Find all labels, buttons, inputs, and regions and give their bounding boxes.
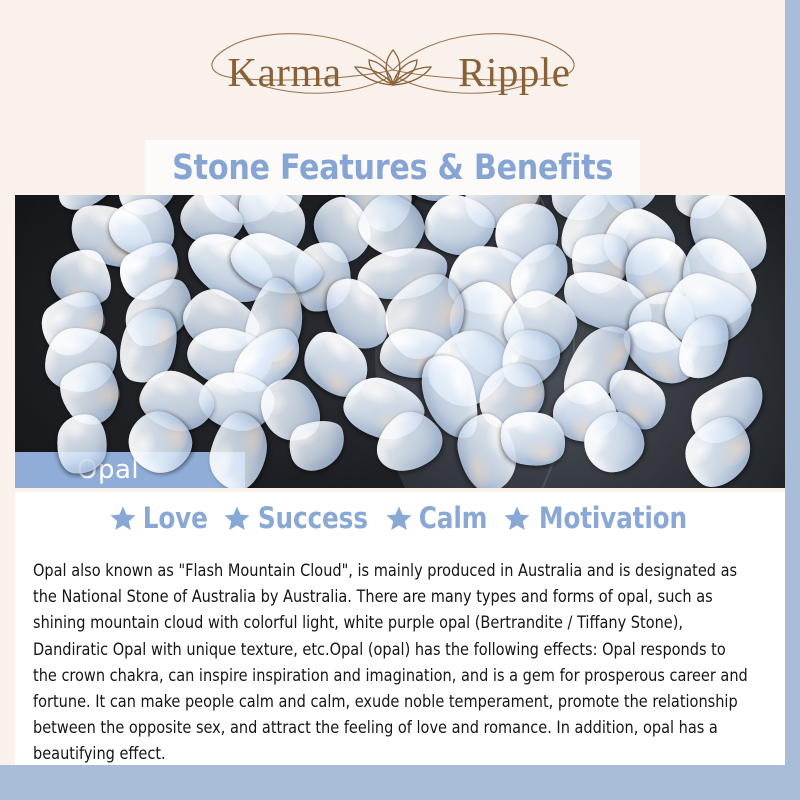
description-text: Opal also known as "Flash Mountain Cloud… — [33, 558, 752, 768]
brand-name-right: Ripple — [458, 48, 570, 96]
benefit-keyword-label: Calm — [419, 501, 487, 535]
product-photo — [15, 195, 785, 488]
benefit-keyword-row: LoveSuccessCalmMotivation — [15, 492, 785, 544]
infographic-page: Karma Ripple Stone Features & Benefits O… — [0, 0, 800, 800]
benefit-keyword-label: Motivation — [539, 501, 687, 535]
opal-stone-pile — [75, 195, 775, 488]
benefit-keyword: Success — [223, 501, 371, 535]
brand-name-left: Karma — [228, 48, 342, 96]
benefit-keyword-label: Success — [258, 501, 368, 535]
lotus-icon — [355, 50, 431, 85]
star-icon — [385, 505, 413, 532]
brand-logo: Karma Ripple — [0, 0, 785, 140]
benefit-keyword: Calm — [385, 501, 489, 535]
page-title: Stone Features & Benefits — [172, 148, 613, 188]
benefit-keyword: Love — [109, 501, 209, 535]
header-banner: Stone Features & Benefits — [145, 140, 640, 195]
description-panel: Opal also known as "Flash Mountain Cloud… — [15, 544, 785, 765]
benefit-keyword: Motivation — [503, 501, 691, 535]
star-icon — [109, 505, 137, 532]
star-icon — [223, 505, 251, 532]
star-icon — [503, 505, 531, 532]
benefit-keyword-label: Love — [143, 501, 208, 535]
